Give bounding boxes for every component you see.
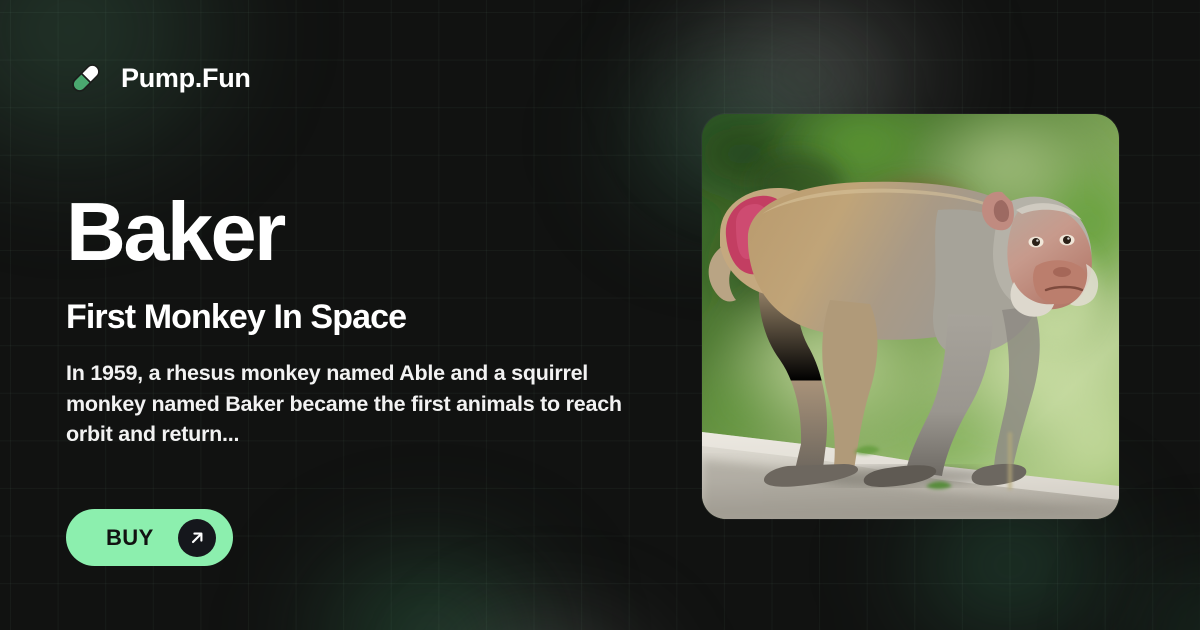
share-card: Pump.Fun Baker First Monkey In Space In … (0, 0, 1200, 630)
page-description: In 1959, a rhesus monkey named Able and … (66, 358, 626, 450)
buy-button[interactable]: BUY (66, 509, 233, 566)
brand-logo[interactable]: Pump.Fun (66, 58, 251, 98)
pill-icon (66, 58, 106, 98)
page-title: Baker (66, 190, 666, 273)
content-layer: Pump.Fun Baker First Monkey In Space In … (0, 0, 1200, 630)
hero-text-column: Baker First Monkey In Space In 1959, a r… (66, 190, 666, 450)
arrow-up-right-icon (178, 519, 216, 557)
buy-button-label: BUY (106, 527, 154, 549)
page-subtitle: First Monkey In Space (66, 299, 666, 336)
token-image-card[interactable] (702, 114, 1119, 519)
brand-name: Pump.Fun (121, 65, 251, 92)
